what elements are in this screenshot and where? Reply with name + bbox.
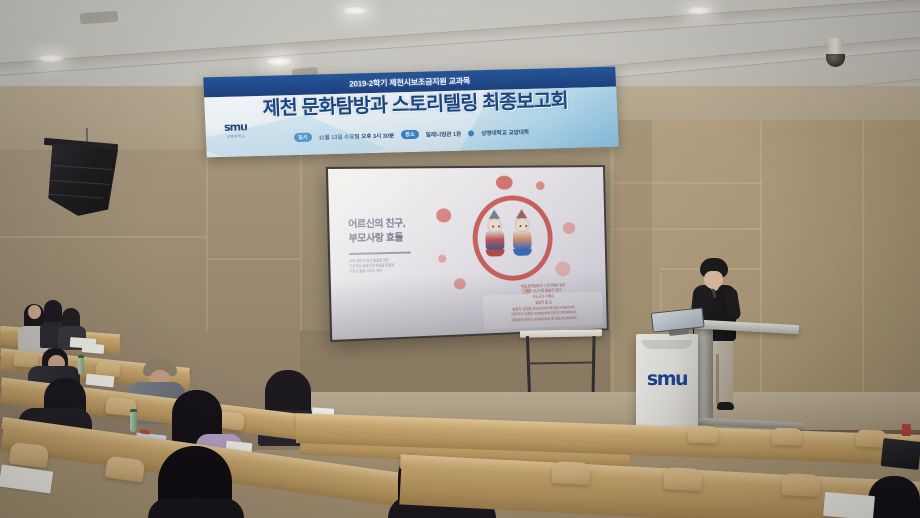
slide-decor-blob	[438, 255, 446, 263]
water-bottle	[78, 358, 84, 375]
slide-title: 어르신의 친구, 부모사랑 효돌	[348, 216, 461, 246]
ceiling-light-icon	[38, 54, 64, 63]
ceiling-light-icon	[266, 57, 292, 66]
monitor-stand	[669, 329, 689, 336]
banner-smu-logo: smu 상명대학교	[213, 120, 258, 140]
podium-monitor	[651, 307, 705, 338]
banner-top-text: 2019-2학기 제천시보조금지원 교과목	[349, 75, 470, 89]
desk-chair	[663, 467, 702, 491]
side-table-top	[520, 329, 602, 337]
slide-decor-blob	[496, 176, 513, 190]
wall-seam	[208, 258, 300, 260]
podium-notch	[642, 340, 692, 349]
slide-doll-left	[484, 209, 506, 256]
presenter-shoe	[717, 402, 734, 410]
banner-body: smu 상명대학교 제천 문화탐방과 스토리텔링 최종보고회 일시 11월 13…	[204, 87, 619, 158]
banner-host-text: 상명대학교 교양대학	[481, 127, 529, 136]
audience-person-head	[28, 305, 41, 319]
slide-title-line2: 부모사랑 효돌	[348, 230, 460, 247]
slide-decor-blob	[536, 181, 545, 190]
audience-person-hair	[868, 476, 920, 518]
slide-note: 치매 예방과 정서 돌봄을 위한 인공지능 돌봄인형 효돌을 활용한 어르신 돌…	[349, 257, 435, 275]
ceiling-band	[0, 0, 920, 80]
slide-decor-blob	[563, 222, 576, 234]
slide-divider	[349, 251, 411, 254]
podium: smu	[636, 334, 698, 432]
audience-laptop	[881, 438, 920, 470]
ceiling-light-icon	[342, 6, 368, 15]
projection-screen: 어르신의 친구, 부모사랑 효돌 치매 예방과 정서 돌봄을 위한 인공지능 돌…	[326, 165, 609, 342]
desk-chair	[551, 461, 590, 485]
banner-chip-date: 일시	[294, 133, 312, 142]
water-bottle	[130, 412, 137, 432]
desk-paper	[0, 464, 53, 493]
podium-smu-logo: smu	[636, 368, 698, 390]
wall-sign	[902, 424, 911, 436]
slide-doll-right	[511, 209, 532, 256]
monitor-screen	[651, 307, 705, 332]
lecture-hall-photo: 2019-2학기 제천시보조금지원 교과목 smu 상명대학교 제천 문화탐방과…	[0, 0, 920, 518]
desk-paper	[823, 492, 875, 518]
desk-chair	[781, 473, 820, 497]
presenter-leg-split	[716, 354, 719, 404]
wall-seam	[206, 150, 208, 330]
slide-credits: 제천 문화탐방과 스토리텔링 발표 '제천 시니어층 돌봄의 방안' 지도교수 …	[485, 282, 601, 326]
desk-chair	[772, 427, 803, 445]
desk-chair	[856, 429, 887, 447]
bottle-cap	[130, 409, 137, 412]
banner-host-icon	[468, 130, 474, 136]
slide-surface: 어르신의 친구, 부모사랑 효돌 치매 예방과 정서 돌봄을 위한 인공지능 돌…	[328, 167, 607, 340]
banner-info-row: 일시 11월 13일 수요일 오후 3시 30분 장소 밀레니엄관 1관 상명대…	[294, 125, 604, 142]
desk-chair	[9, 442, 49, 468]
banner-logo-text: smu	[213, 120, 258, 134]
wall-seam	[862, 120, 864, 420]
event-banner: 2019-2학기 제천시보조금지원 교과목 smu 상명대학교 제천 문화탐방과…	[203, 67, 619, 158]
banner-logo-subtext: 상명대학교	[214, 134, 258, 140]
banner-chip-place: 장소	[401, 130, 419, 139]
banner-date-text: 11월 13일 수요일 오후 3시 30분	[318, 131, 394, 141]
wall-seam	[300, 156, 302, 331]
slide-decor-blob	[555, 261, 571, 276]
desk-chair	[105, 455, 146, 482]
ceiling-light-icon	[686, 6, 712, 15]
desk-chair	[688, 425, 719, 443]
bottle-cap	[78, 355, 84, 358]
wall-seam	[760, 120, 762, 420]
foreground-person-body	[148, 498, 244, 518]
ceiling-vent-icon	[80, 11, 119, 25]
banner-place-text: 밀레니엄관 1관	[425, 129, 461, 138]
wall-seam	[0, 236, 206, 238]
desk-paper	[82, 343, 105, 354]
banner-main-title: 제천 문화탐방과 스토리텔링 최종보고회	[262, 91, 611, 120]
slide-decor-blob	[454, 278, 466, 289]
